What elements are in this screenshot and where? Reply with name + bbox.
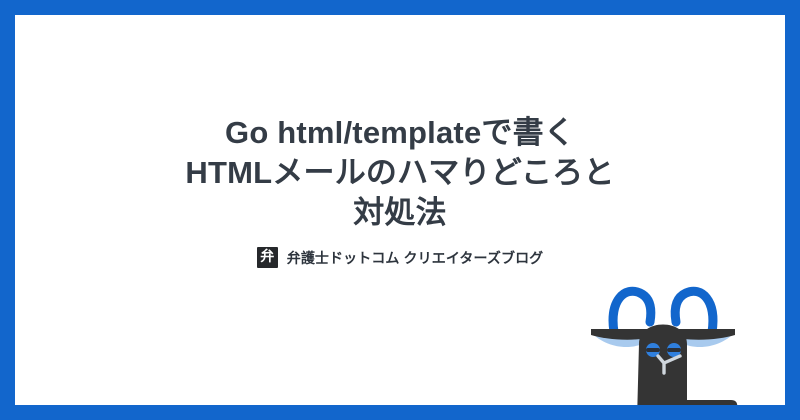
brand-name: 弁護士ドットコム クリエイターズブログ <box>287 248 544 268</box>
goat-right-ear-icon <box>669 329 735 347</box>
bengoshi-dotcom-logo-icon: 弁 <box>257 247 278 268</box>
goat-muzzle-icon <box>658 356 680 373</box>
page-title: Go html/templateで書く HTMLメールのハマりどころと 対処法 <box>15 113 785 233</box>
title-block: Go html/templateで書く HTMLメールのハマりどころと 対処法 … <box>15 15 785 268</box>
goat-left-eye-icon <box>646 343 660 357</box>
goat-left-horn-icon <box>613 291 651 332</box>
goat-right-eye-icon <box>667 343 681 357</box>
goat-right-horn-icon <box>675 291 713 332</box>
goat-left-ear-icon <box>591 329 657 347</box>
goat-mascot-icon <box>579 260 769 405</box>
title-line-1: Go html/templateで書く <box>15 113 785 153</box>
ogp-card-inner: Go html/templateで書く HTMLメールのハマりどころと 対処法 … <box>15 15 785 405</box>
goat-body <box>637 325 737 406</box>
title-line-2: HTMLメールのハマりどころと <box>15 153 785 193</box>
ogp-card: Go html/templateで書く HTMLメールのハマりどころと 対処法 … <box>0 0 800 420</box>
brand-row: 弁 弁護士ドットコム クリエイターズブログ <box>15 247 785 268</box>
title-line-3: 対処法 <box>15 193 785 233</box>
